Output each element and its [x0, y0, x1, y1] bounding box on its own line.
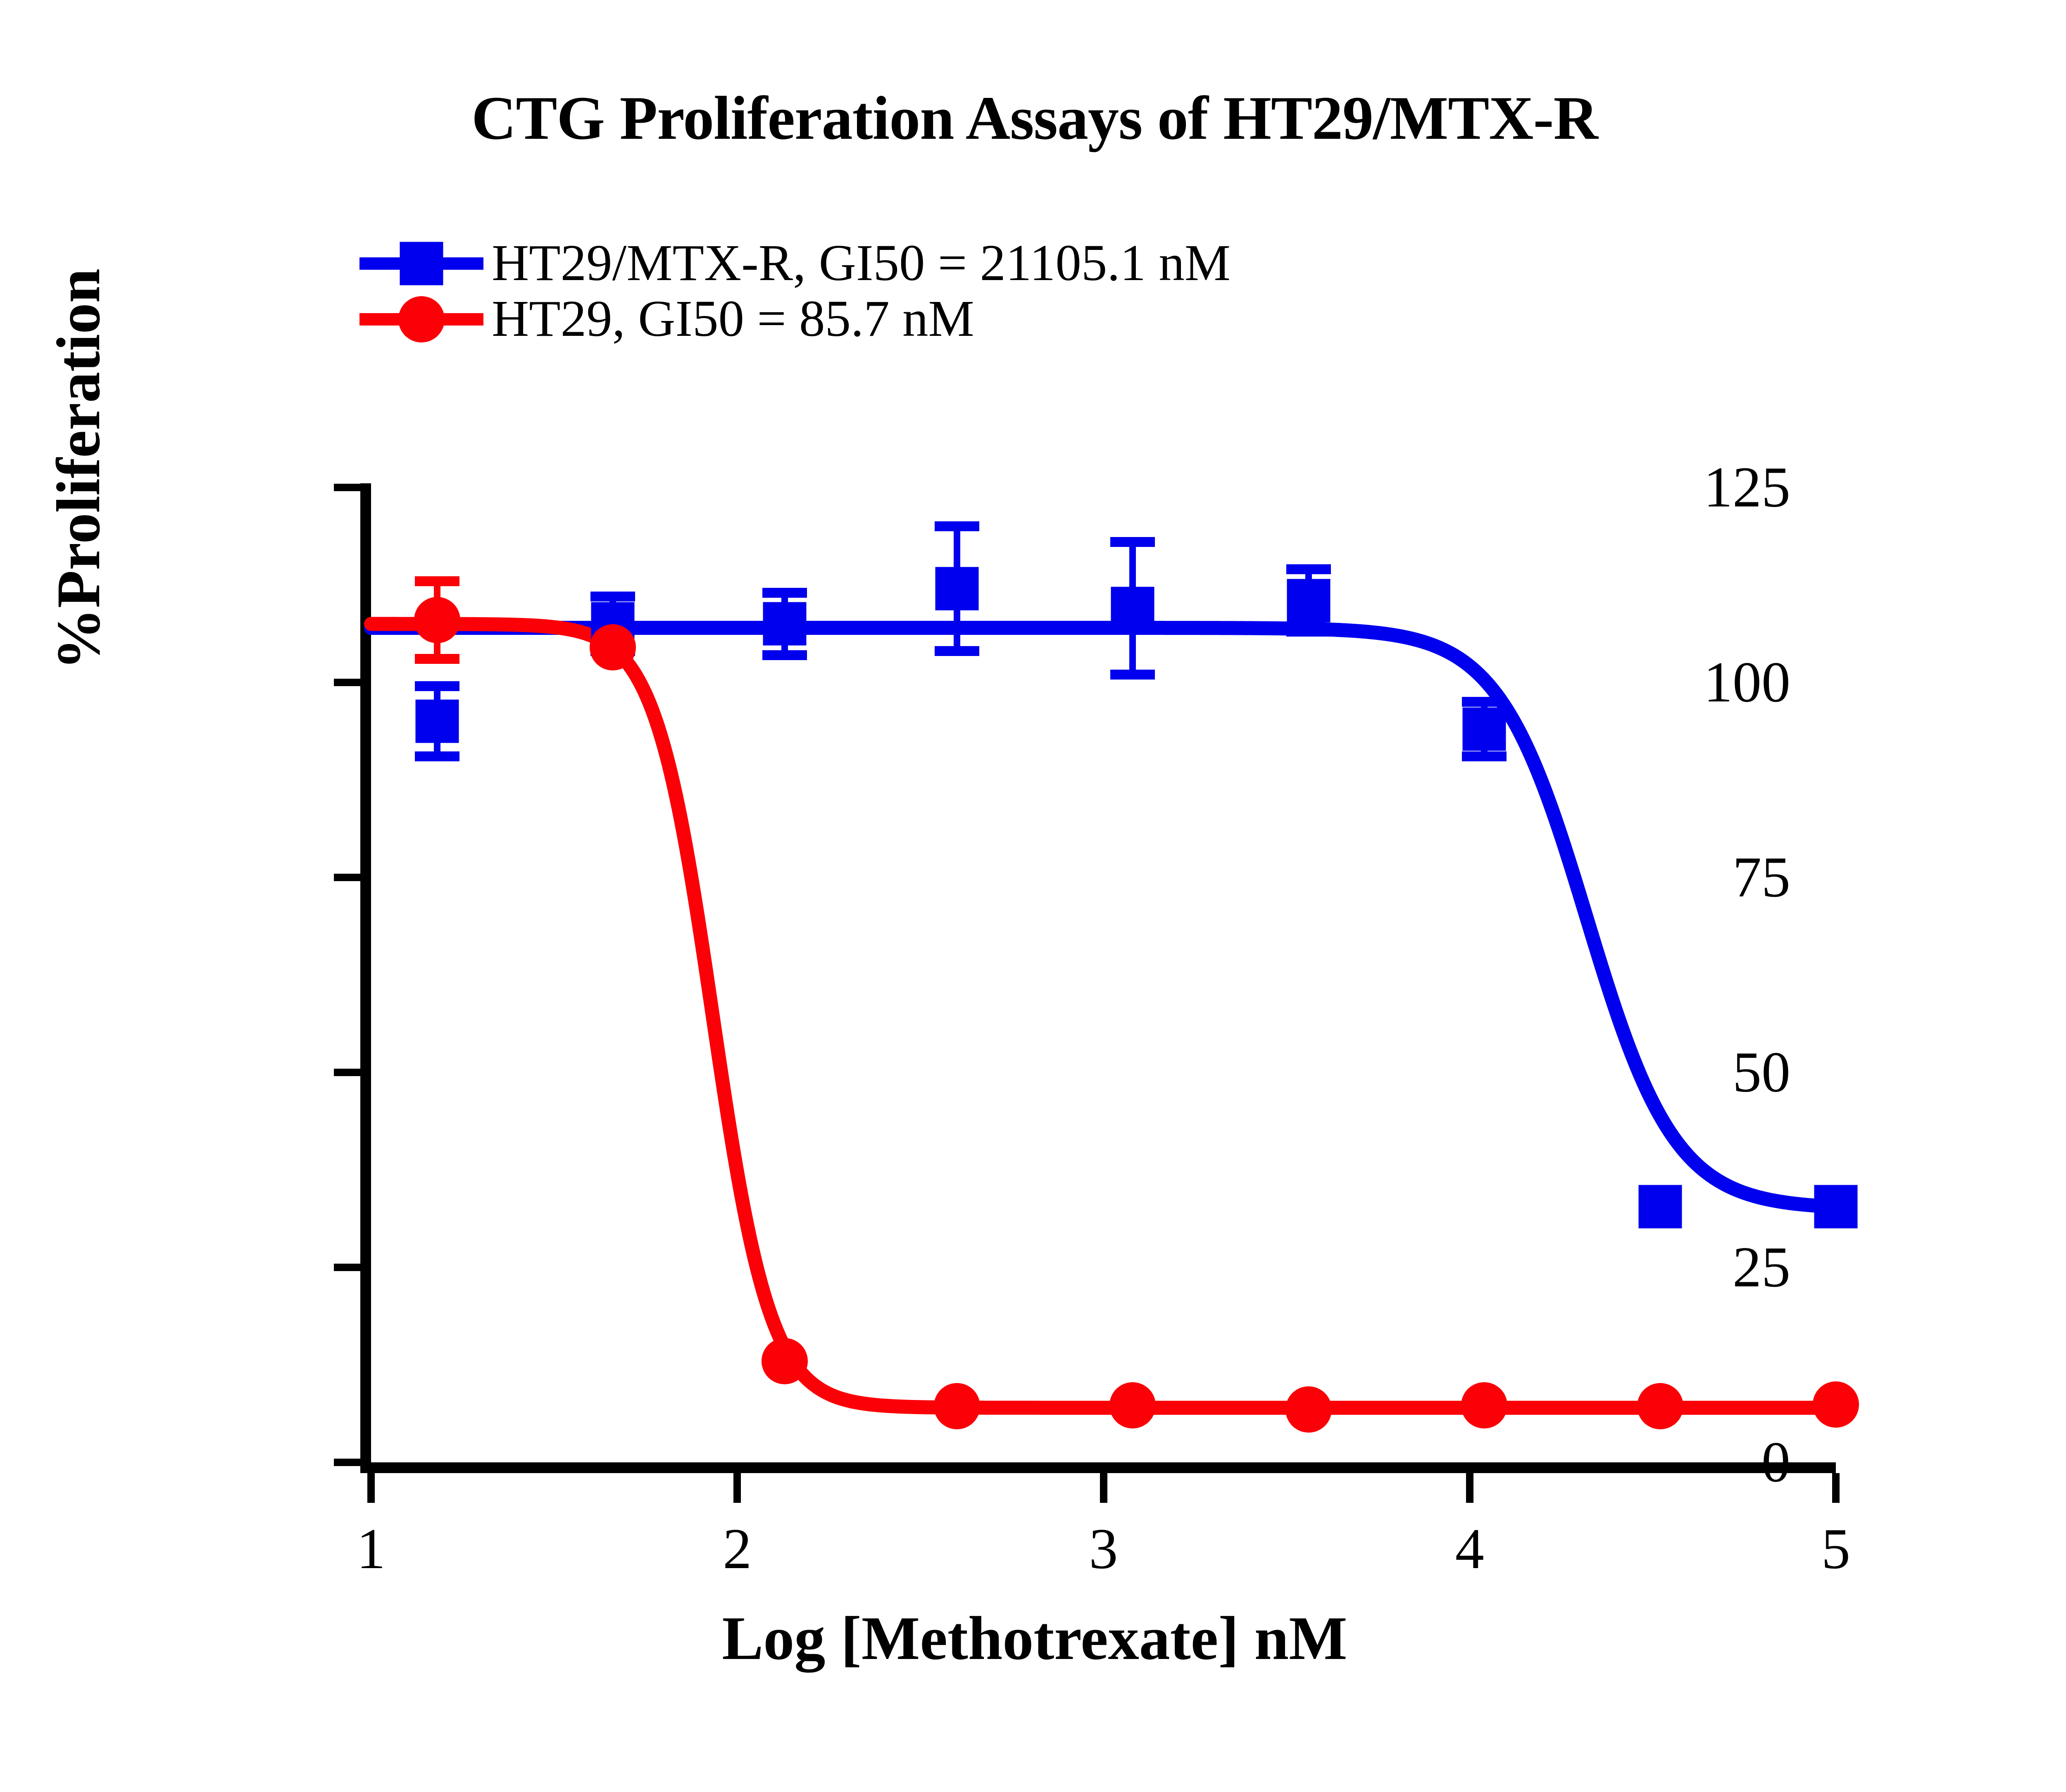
x-tick	[367, 1473, 375, 1503]
y-tick	[334, 679, 360, 686]
legend-label: HT29, GI50 = 85.7 nM	[483, 290, 974, 349]
y-tick-label: 125	[1704, 459, 1790, 516]
y-tick-label: 100	[1704, 654, 1790, 711]
x-tick	[733, 1473, 741, 1503]
data-point-square[interactable]	[1638, 1185, 1682, 1228]
x-axis-line	[360, 1462, 1836, 1473]
legend-item-ht29[interactable]: HT29, GI50 = 85.7 nM	[359, 291, 1847, 347]
data-point-circle[interactable]	[1109, 1382, 1156, 1428]
x-tick	[1100, 1473, 1107, 1503]
error-bar-cap	[1110, 537, 1155, 547]
error-bar-cap	[415, 751, 459, 761]
data-point-circle[interactable]	[590, 624, 636, 670]
y-tick-label: 0	[1761, 1433, 1790, 1491]
data-point-circle[interactable]	[414, 597, 460, 643]
error-bar-cap	[1110, 670, 1155, 680]
error-bar-cap	[1286, 564, 1331, 574]
x-tick-label: 5	[1821, 1520, 1850, 1578]
error-bar-cap	[762, 650, 807, 660]
legend-marker-circle-icon	[359, 292, 483, 346]
y-tick-label: 75	[1733, 848, 1790, 906]
data-point-square[interactable]	[1287, 579, 1330, 622]
x-tick	[1466, 1473, 1473, 1503]
legend: HT29/MTX-R, GI50 = 21105.1 nM HT29, GI50…	[359, 235, 1847, 347]
x-tick-label: 2	[723, 1520, 752, 1578]
error-bar-cap	[935, 521, 979, 531]
error-bar-cap	[590, 592, 635, 601]
legend-item-ht29-mtx-r[interactable]: HT29/MTX-R, GI50 = 21105.1 nM	[359, 235, 1847, 291]
data-point-square[interactable]	[1111, 587, 1154, 630]
data-point-circle[interactable]	[934, 1383, 980, 1429]
data-point-square[interactable]	[935, 567, 979, 611]
error-bar-cap	[1462, 751, 1507, 761]
y-tick-label: 25	[1733, 1238, 1790, 1296]
data-point-circle[interactable]	[1461, 1382, 1507, 1428]
error-bar-cap	[415, 654, 459, 664]
data-point-circle[interactable]	[1637, 1383, 1683, 1429]
error-bar-cap	[415, 681, 459, 691]
legend-marker-square-icon	[359, 237, 483, 290]
data-point-circle[interactable]	[762, 1338, 808, 1384]
y-tick	[334, 484, 360, 491]
x-tick-label: 3	[1089, 1520, 1118, 1578]
error-bar-cap	[1286, 627, 1331, 637]
data-point-square[interactable]	[1814, 1185, 1858, 1228]
data-point-circle[interactable]	[1285, 1386, 1332, 1433]
x-tick	[1832, 1473, 1840, 1503]
data-point-circle[interactable]	[1813, 1381, 1859, 1428]
error-bar-cap	[762, 588, 807, 598]
plot-area: 025507510012512345	[371, 487, 1836, 1462]
y-tick	[334, 1264, 360, 1271]
y-tick	[334, 874, 360, 881]
x-axis-title: Log [Methotrexate] nM	[0, 1603, 2066, 1674]
data-point-square[interactable]	[1463, 708, 1506, 751]
y-tick	[334, 1459, 360, 1466]
series-curve	[371, 628, 1836, 1207]
error-bar-cap	[1462, 697, 1507, 707]
page-title: CTG Proliferation Assays of HT29/MTX-R	[0, 83, 2066, 154]
error-bar-cap	[935, 646, 979, 656]
error-bar-cap	[415, 576, 459, 586]
y-tick-label: 50	[1733, 1043, 1790, 1101]
y-tick	[334, 1069, 360, 1076]
data-point-square[interactable]	[763, 602, 807, 646]
x-tick-label: 1	[357, 1520, 386, 1578]
x-tick-label: 4	[1455, 1520, 1484, 1578]
legend-label: HT29/MTX-R, GI50 = 21105.1 nM	[483, 234, 1231, 293]
chart-page: CTG Proliferation Assays of HT29/MTX-R H…	[0, 0, 2066, 1792]
y-axis-title: %Proliferation	[43, 0, 114, 965]
data-point-square[interactable]	[415, 700, 459, 743]
